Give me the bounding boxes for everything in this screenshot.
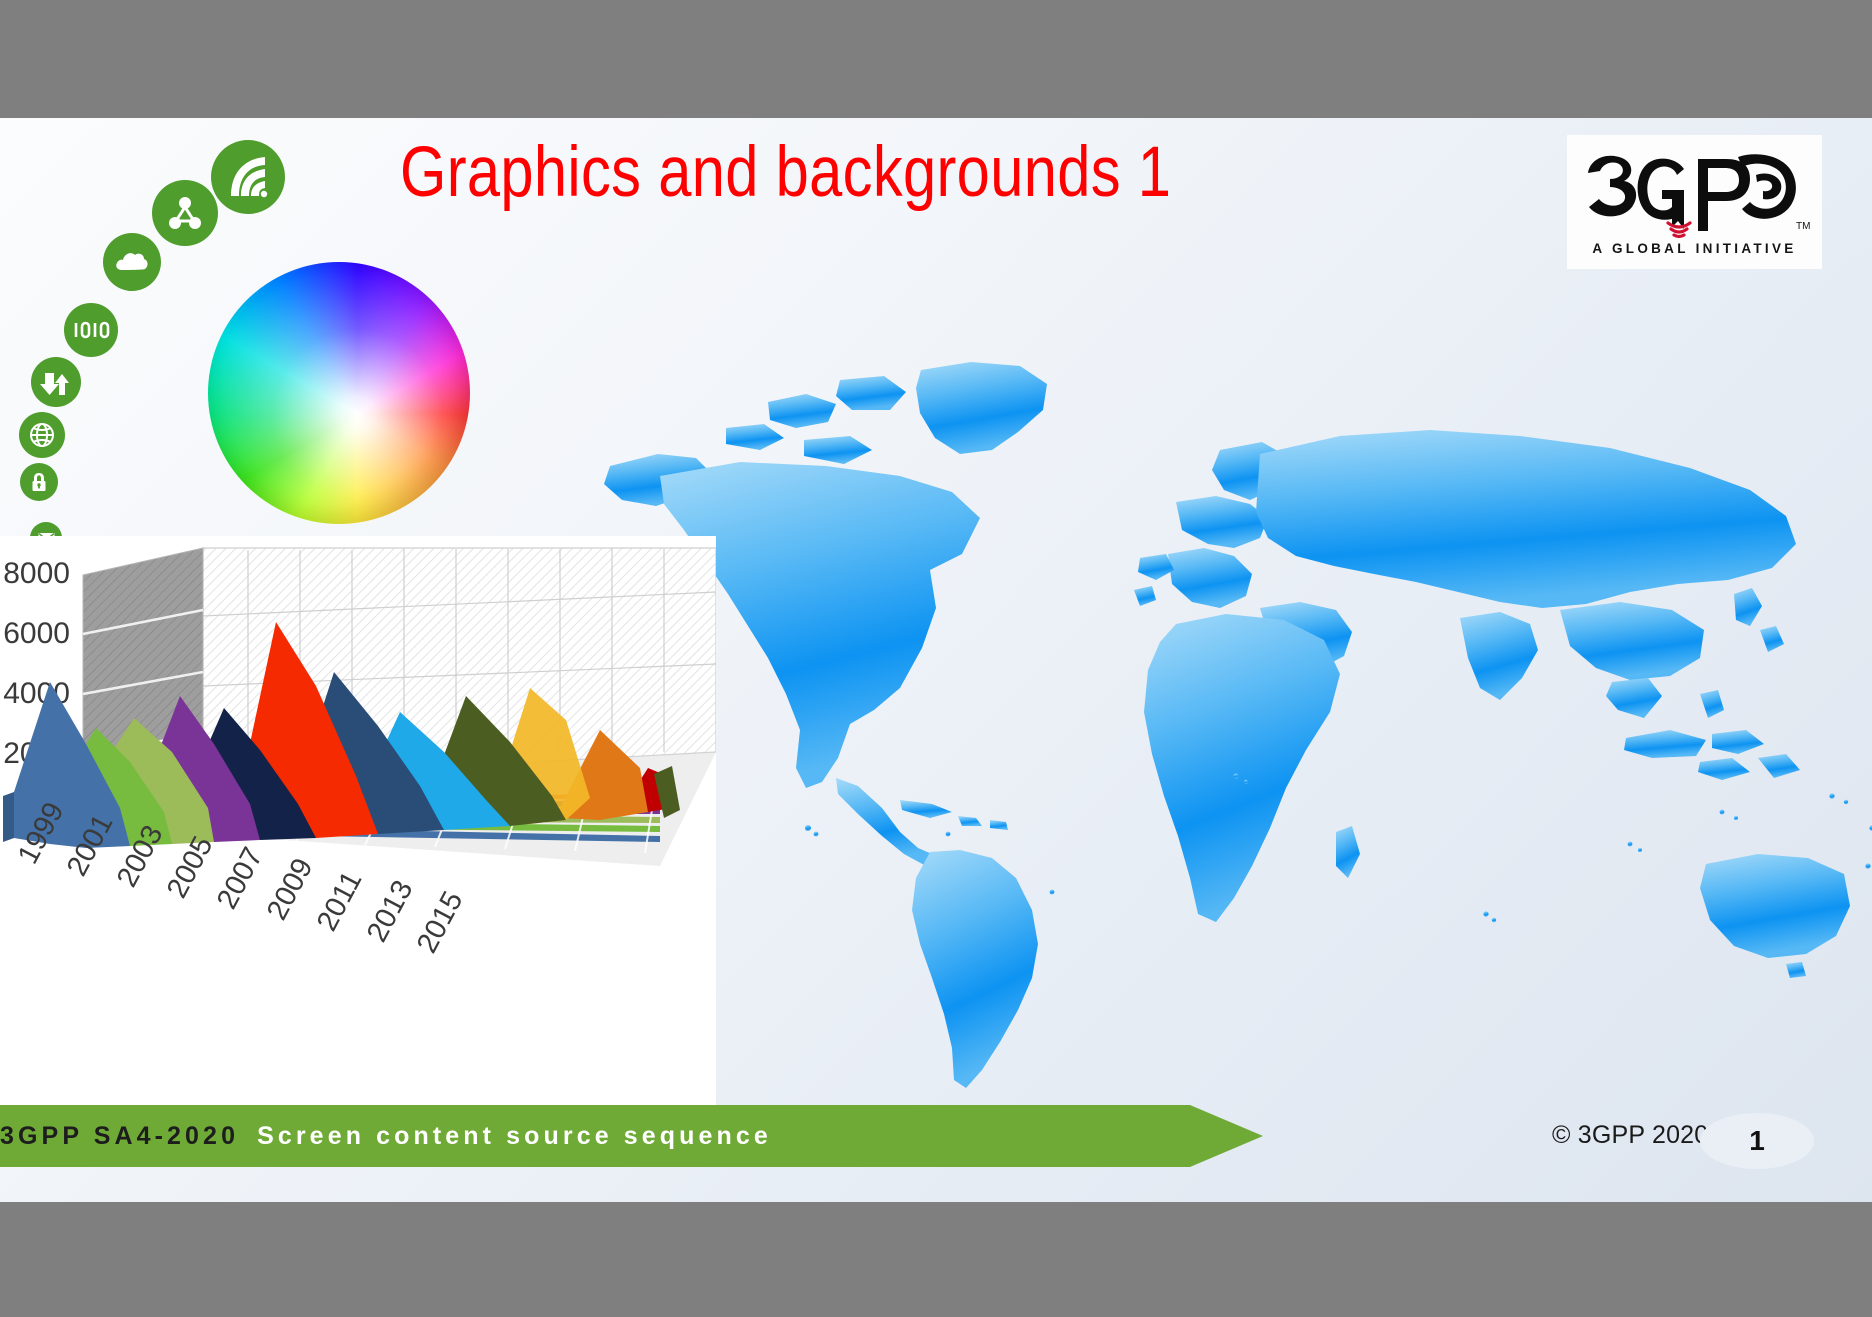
signal-waves-icon [211,140,285,214]
footer-text-group: 3GPP SA4-2020 Screen content source sequ… [0,1105,772,1167]
letterbox-bottom-bar [0,1202,1872,1317]
area-chart-panel: 8000 6000 4000 2000 0 [0,536,716,1105]
slide-canvas: Graphics and backgrounds 1 [0,118,1872,1202]
globe-icon [19,412,65,458]
page-number-badge: 1 [1700,1113,1814,1169]
color-wheel [208,262,470,524]
world-map [600,358,1872,1098]
y-tick-8000: 8000 [3,557,70,590]
binary-1010-icon [64,303,118,357]
3gpp-logo: TM A GLOBAL INITIATIVE [1567,135,1822,269]
3gpp-logo-mark: TM [1580,149,1810,245]
network-share-icon [152,180,218,246]
download-upload-icon [31,357,81,407]
lock-icon [20,463,58,501]
logo-trademark: TM [1796,221,1810,232]
y-tick-6000: 6000 [3,617,70,650]
logo-tagline: A GLOBAL INITIATIVE [1592,241,1796,256]
area-chart: 8000 6000 4000 2000 0 [0,536,716,1105]
footer-subtitle-label: Screen content source sequence [257,1122,772,1151]
letterbox-top-bar [0,0,1872,118]
page-title: Graphics and backgrounds 1 [400,136,1240,211]
cloud-icon [103,233,161,291]
copyright-label: © 3GPP 2020 [1552,1121,1708,1150]
footer-meeting-label: 3GPP SA4-2020 [0,1122,239,1151]
